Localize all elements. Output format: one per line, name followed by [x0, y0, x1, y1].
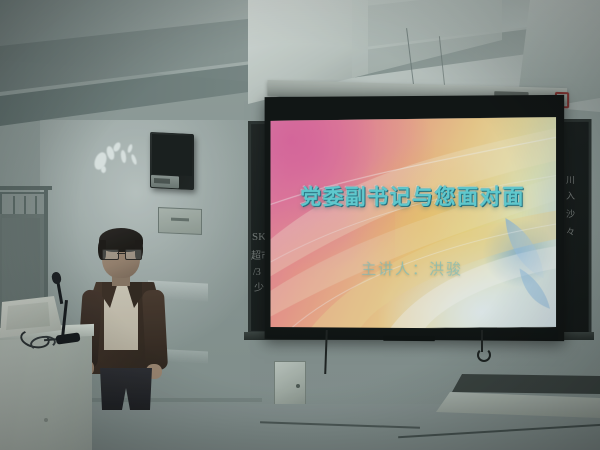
presenter-arm-right — [142, 289, 168, 370]
crt-monitor-screen — [6, 302, 50, 330]
chalk-text-3: /3 — [253, 268, 261, 278]
slide-title: 党委副书记与您面对面 — [270, 181, 556, 211]
chalk-right-1: 川 — [566, 176, 575, 185]
chalk-text-4: 少 — [254, 284, 264, 294]
speaker-badge — [154, 178, 170, 184]
wall-speaker — [150, 132, 194, 190]
chalk-right-2: 入 — [566, 192, 575, 201]
glasses-icon — [102, 249, 140, 258]
cabinet-latch-icon — [296, 384, 300, 388]
panel-slot — [171, 218, 189, 222]
presenter — [78, 228, 174, 404]
desk-top-right — [452, 374, 600, 394]
presenter-trousers — [100, 368, 152, 410]
screen-weight-bar — [383, 336, 435, 341]
projected-slide: 党委副书记与您面对面 主讲人：洪骏 — [270, 117, 556, 331]
classroom-photo: SK 超市 /3 少 川 入 沙 々 — [0, 0, 600, 450]
slide-ribbon-artwork — [270, 117, 556, 331]
speaker-grille — [152, 134, 192, 176]
hanging-cable-right — [481, 330, 483, 352]
slide-subtitle: 主讲人：洪骏 — [270, 258, 556, 280]
chalk-right-4: 々 — [566, 228, 575, 237]
utility-cabinet — [274, 361, 306, 409]
lectern-fastener — [44, 418, 48, 422]
wall-light-reflection — [93, 140, 153, 180]
projection-screen: 党委副书记与您面对面 主讲人：洪骏 — [265, 95, 565, 341]
chalk-right-3: 沙 — [566, 210, 575, 219]
